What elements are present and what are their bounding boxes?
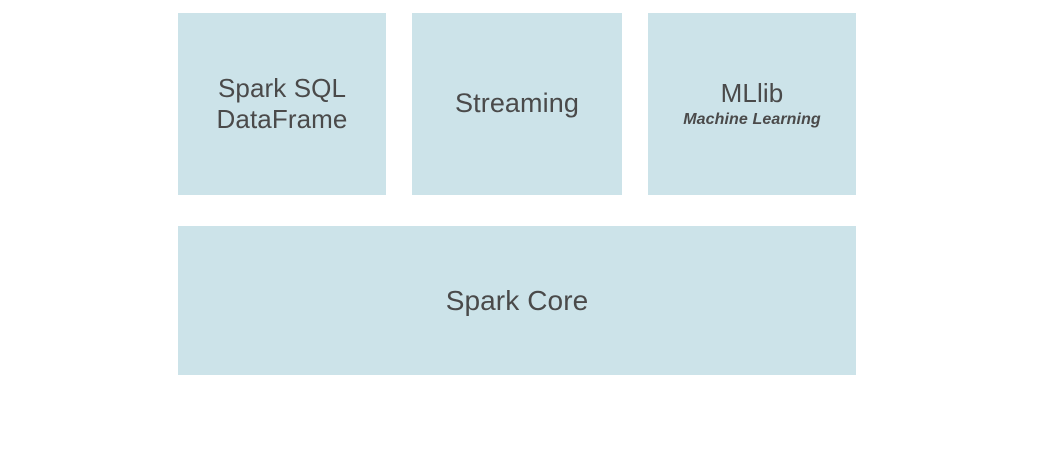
spark-core-label-group: Spark Core [446,284,589,317]
spark-sql-label-group: Spark SQL DataFrame [217,73,348,134]
streaming-title: Streaming [455,88,579,120]
component-box-spark-core[interactable]: Spark Core [178,226,856,375]
spark-stack-diagram: Spark SQL DataFrame Streaming MLlib Mach… [0,0,1053,457]
component-box-spark-sql[interactable]: Spark SQL DataFrame [178,13,386,195]
mllib-title: MLlib [721,78,784,109]
streaming-label-group: Streaming [455,88,579,120]
mllib-label-group: MLlib Machine Learning [683,78,821,130]
component-box-mllib[interactable]: MLlib Machine Learning [648,13,856,195]
mllib-subtitle: Machine Learning [683,111,821,130]
spark-sql-title-line-2: DataFrame [217,104,348,135]
spark-core-title: Spark Core [446,284,589,317]
spark-sql-title-line-1: Spark SQL [218,73,346,104]
component-box-streaming[interactable]: Streaming [412,13,622,195]
